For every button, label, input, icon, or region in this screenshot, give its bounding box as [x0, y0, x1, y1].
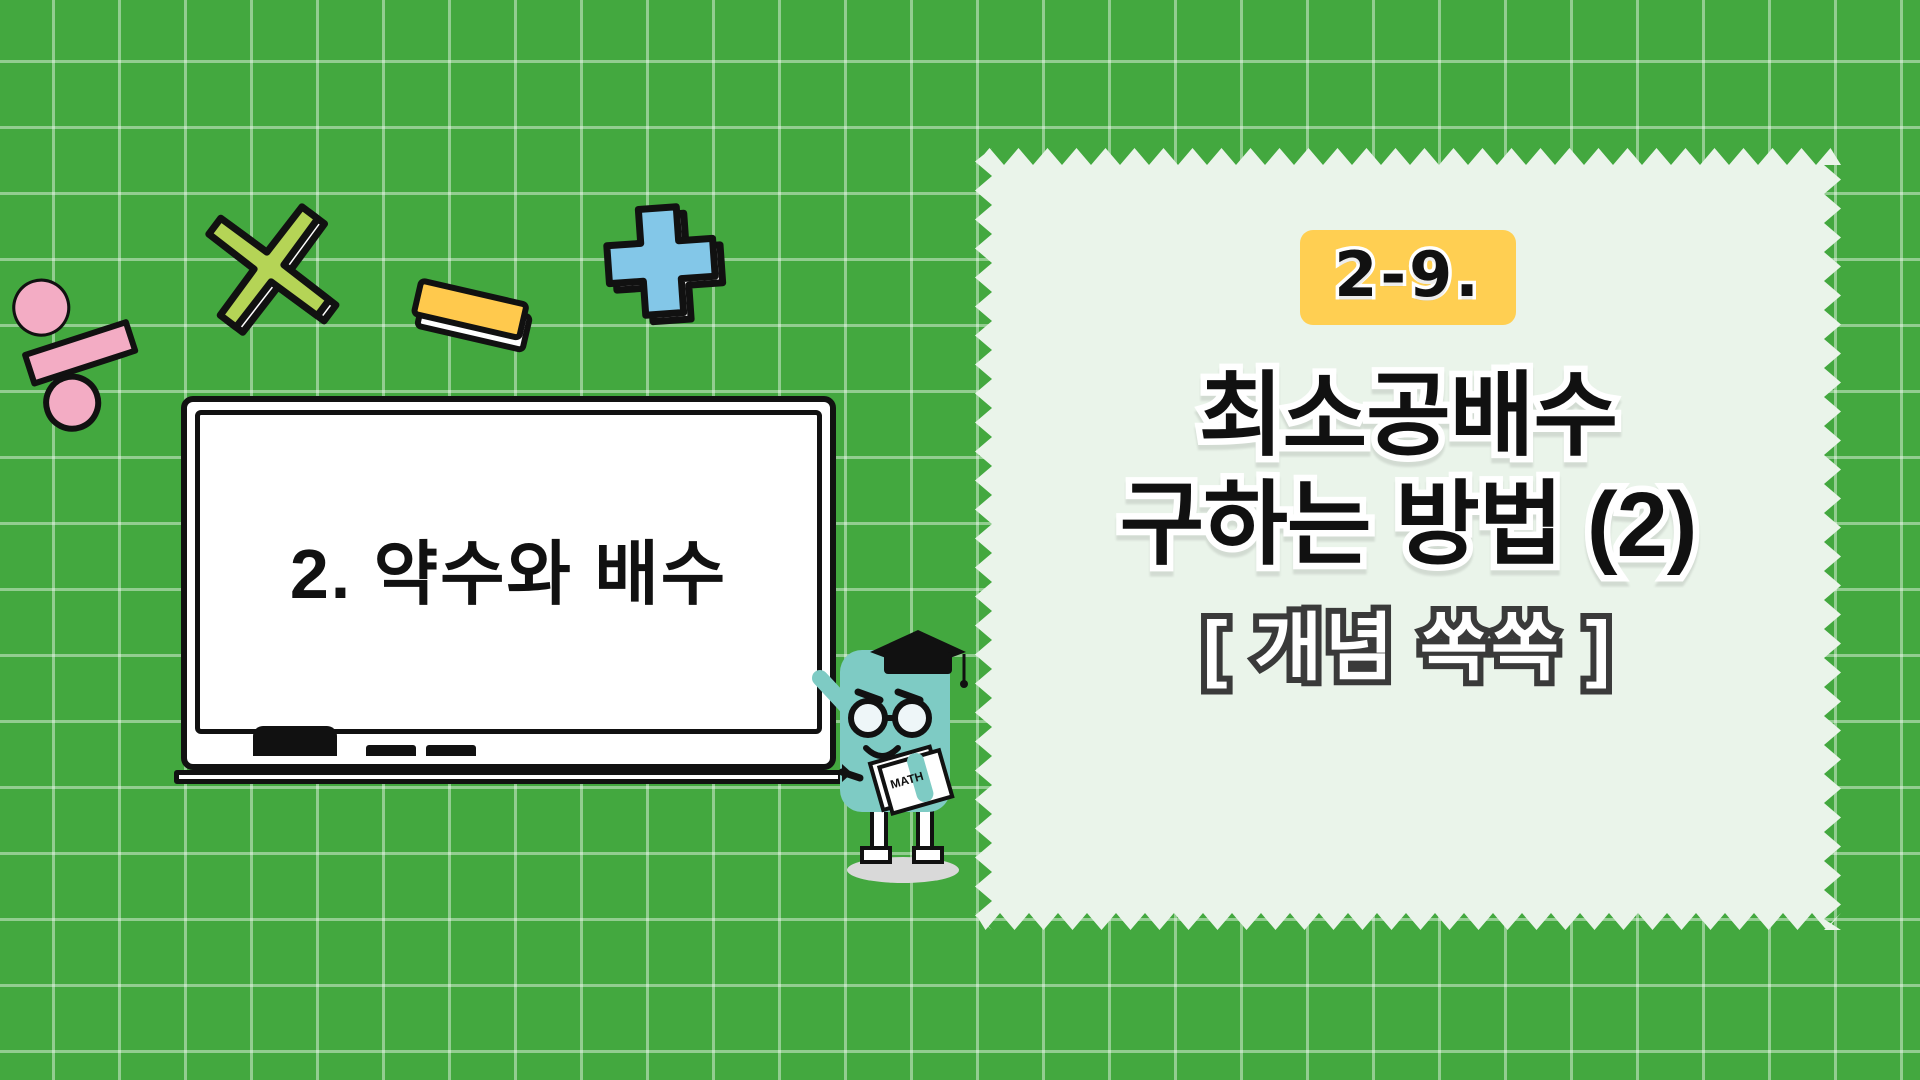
minus-symbol [404, 270, 534, 350]
headline-line-1: 최소공배수 [1199, 365, 1617, 468]
subtitle-tag: [ 개념 쏙쏙 ] [1203, 611, 1613, 685]
whiteboard-tray [174, 770, 843, 784]
whiteboard: 2. 약수와 배수 [181, 396, 836, 770]
headline-line-2: 구하는 방법 (2) [1120, 474, 1697, 577]
plus-symbol [596, 196, 726, 326]
lesson-number-badge: 2-9. [1300, 230, 1516, 325]
whiteboard-marker-2 [426, 745, 476, 756]
math-teacher-mascot: MATH [818, 612, 988, 884]
slide-canvas: 2. 약수와 배수 [0, 0, 1920, 1080]
title-panel: 2-9. 최소공배수 구하는 방법 (2) [ 개념 쏙쏙 ] [975, 148, 1841, 930]
divide-symbol [8, 268, 148, 418]
whiteboard-eraser [253, 726, 337, 756]
whiteboard-marker-1 [366, 745, 416, 756]
multiply-symbol [204, 202, 334, 332]
chapter-title: 2. 약수와 배수 [181, 518, 836, 619]
